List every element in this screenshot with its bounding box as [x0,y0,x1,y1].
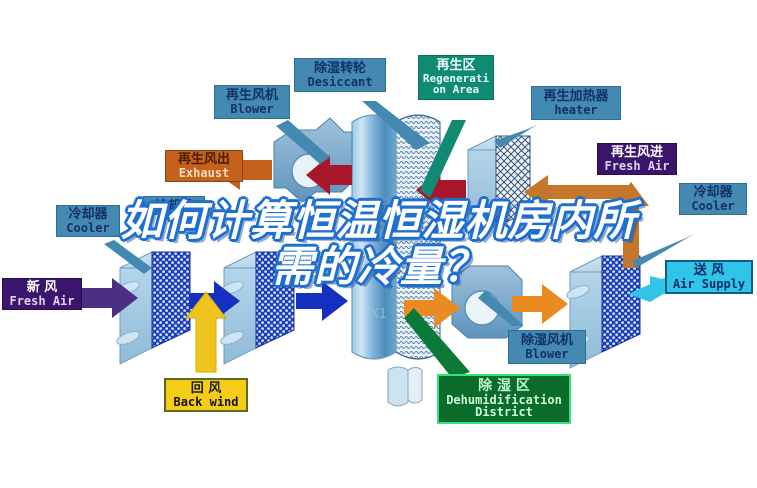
label-desiccant-wheel-cn: 除湿转轮 [297,62,383,76]
label-fresh-air-left: 新 风 Fresh Air [2,278,82,310]
label-regen-fresh-air: 再生风进 Fresh Air [597,143,677,175]
label-cooler-upper-en: Cooler [59,222,117,235]
label-regen-exhaust: 再生风出 Exhaust [165,150,243,182]
label-back-wind: 回 风 Back wind [164,378,248,412]
label-desiccant-wheel-en: Desiccant [297,76,383,89]
label-regen-blower: 再生风机 Blower [214,85,290,119]
label-regen-fresh-air-cn: 再生风进 [600,146,674,160]
label-air-supply: 送 风 Air Supply [665,260,753,294]
label-fresh-air-left-cn: 新 风 [5,281,79,295]
label-dehum-blower-cn: 除湿风机 [511,334,583,348]
label-cooler-upper-cn: 冷却器 [59,208,117,222]
label-regen-area-cn: 再生区 [421,59,491,73]
label-regen-area: 再生区 Regenerati on Area [418,55,494,100]
label-cooler-small-cn: 冷却器 [146,199,202,212]
diagram-canvas: X1 [0,0,757,488]
label-regen-fresh-air-en: Fresh Air [600,160,674,173]
label-cooler-right-cn: 冷却器 [682,186,744,200]
label-dehum-district: 除 湿 区 Dehumidification District [437,374,571,424]
label-regen-heater-cn: 再生加热器 [534,90,618,104]
label-regen-heater-en: heater [534,104,618,117]
label-dehum-district-en-line2: District [441,406,567,419]
label-dehum-blower-en: Blower [511,348,583,361]
label-cooler-right-en: Cooler [682,200,744,213]
arrow-process-stage-2 [296,281,348,321]
label-dehum-blower: 除湿风机 Blower [508,330,586,364]
label-regen-exhaust-cn: 再生风出 [168,153,240,167]
arrow-regen-fresh-in [524,175,630,209]
label-regen-heater: 再生加热器 heater [531,86,621,120]
label-back-wind-cn: 回 风 [168,382,244,396]
desiccant-rotor: X1 [352,115,440,406]
label-regen-blower-en: Blower [217,103,287,116]
regen-heater-coil [468,136,530,240]
label-regen-blower-cn: 再生风机 [217,89,287,103]
label-back-wind-en: Back wind [168,396,244,409]
label-regen-area-en-line2: on Area [421,84,491,96]
label-air-supply-cn: 送 风 [669,264,749,278]
label-fresh-air-left-en: Fresh Air [5,295,79,308]
label-desiccant-wheel: 除湿转轮 Desiccant [294,58,386,92]
label-cooler-right: 冷却器 Cooler [679,183,747,215]
svg-text:X1: X1 [370,307,387,322]
label-air-supply-en: Air Supply [669,278,749,291]
label-cooler-upper: 冷却器 Cooler [56,205,120,237]
label-cooler-small: 冷却器 [143,196,205,215]
cooler-coil-1 [115,252,190,364]
label-dehum-district-cn: 除 湿 区 [441,379,567,394]
label-regen-exhaust-en: Exhaust [168,167,240,180]
